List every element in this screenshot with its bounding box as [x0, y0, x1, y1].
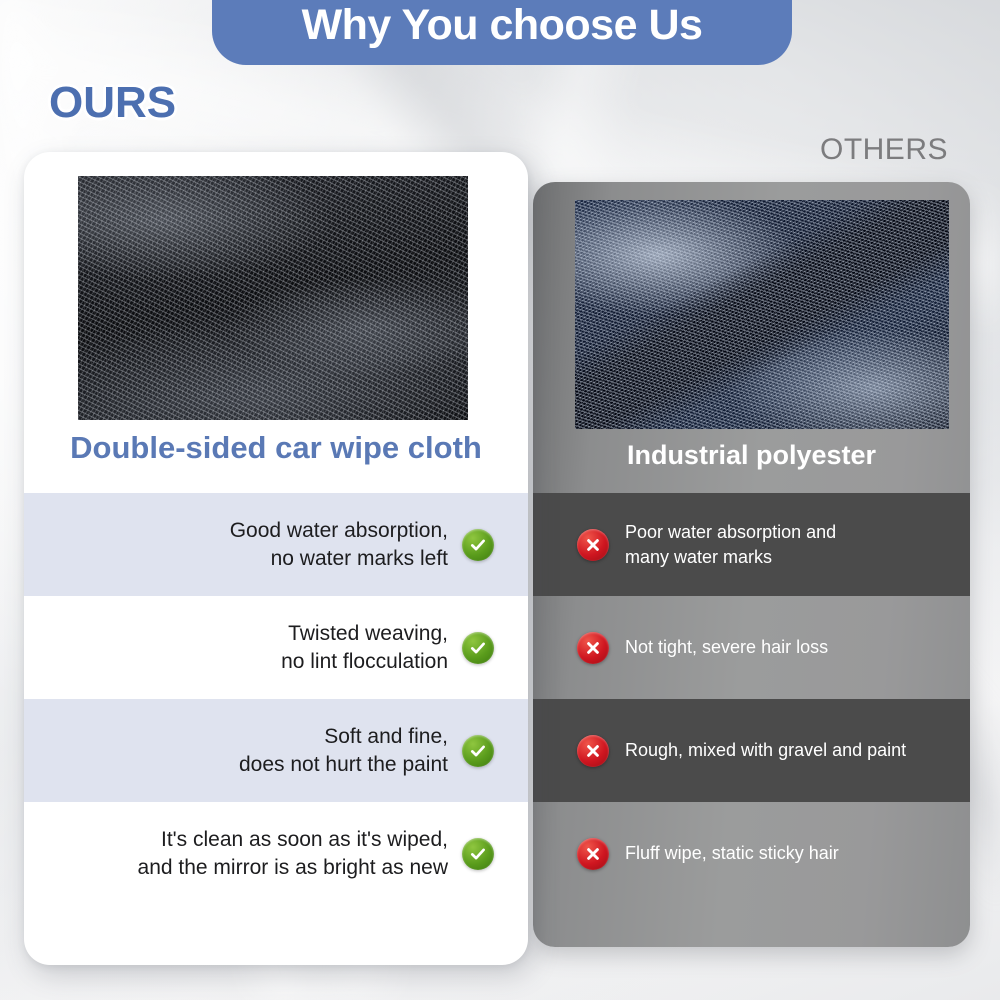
- ours-feature-row: Soft and fine, does not hurt the paint: [24, 699, 528, 802]
- others-feature-row: Not tight, severe hair loss: [533, 596, 970, 699]
- check-circle-icon: [462, 838, 494, 870]
- header-banner: Why You choose Us: [212, 0, 792, 65]
- ours-feature-text: Twisted weaving, no lint flocculation: [281, 620, 448, 675]
- check-circle-icon: [462, 735, 494, 767]
- others-feature-list: Poor water absorption and many water mar…: [533, 493, 970, 905]
- ours-feature-text: Good water absorption, no water marks le…: [230, 517, 448, 572]
- others-feature-row: Rough, mixed with gravel and paint: [533, 699, 970, 802]
- check-circle-icon: [462, 632, 494, 664]
- others-feature-row: Poor water absorption and many water mar…: [533, 493, 970, 596]
- others-feature-row: Fluff wipe, static sticky hair: [533, 802, 970, 905]
- others-feature-text: Not tight, severe hair loss: [625, 635, 828, 660]
- ours-feature-text: It's clean as soon as it's wiped, and th…: [138, 826, 448, 881]
- column-label-others: OTHERS: [820, 133, 948, 167]
- ours-feature-row: Good water absorption, no water marks le…: [24, 493, 528, 596]
- page-title: Why You choose Us: [302, 4, 703, 51]
- ours-product-title: Double-sided car wipe cloth: [24, 430, 528, 466]
- others-feature-text: Rough, mixed with gravel and paint: [625, 738, 906, 763]
- others-product-title: Industrial polyester: [533, 440, 970, 471]
- check-circle-icon: [462, 529, 494, 561]
- ours-feature-list: Good water absorption, no water marks le…: [24, 493, 528, 905]
- cross-circle-icon: [577, 529, 609, 561]
- ours-feature-text: Soft and fine, does not hurt the paint: [239, 723, 448, 778]
- ours-product-image: [78, 176, 468, 420]
- cross-circle-icon: [577, 632, 609, 664]
- others-feature-text: Fluff wipe, static sticky hair: [625, 841, 839, 866]
- column-label-ours: OURS: [49, 78, 176, 128]
- ours-feature-row: Twisted weaving, no lint flocculation: [24, 596, 528, 699]
- cross-circle-icon: [577, 838, 609, 870]
- ours-feature-row: It's clean as soon as it's wiped, and th…: [24, 802, 528, 905]
- others-product-image: [575, 200, 949, 429]
- cross-circle-icon: [577, 735, 609, 767]
- others-feature-text: Poor water absorption and many water mar…: [625, 520, 836, 570]
